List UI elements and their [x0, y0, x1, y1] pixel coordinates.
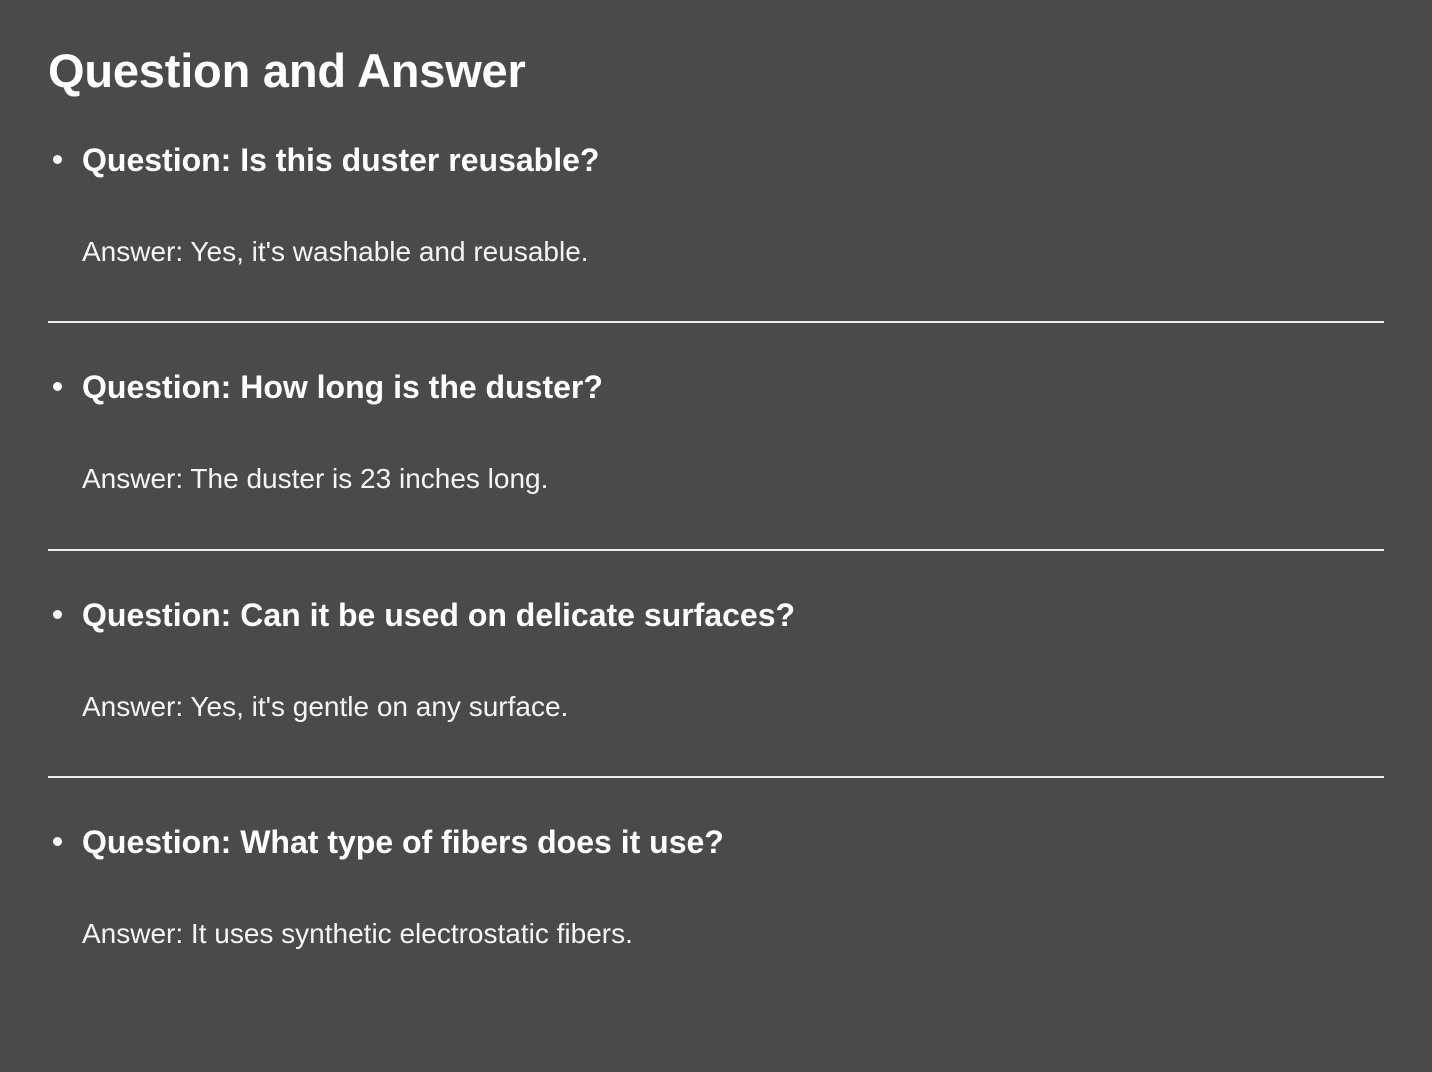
qa-answer-text: Answer: Yes, it's gentle on any surface.	[48, 689, 1388, 725]
qa-answer-text: Answer: The duster is 23 inches long.	[48, 461, 1388, 497]
qa-question: Question: Can it be used on delicate sur…	[48, 595, 1388, 635]
question-and-answer-panel: Question and Answer Question: Is this du…	[0, 0, 1432, 1072]
bullet-dot-icon	[53, 382, 62, 391]
page-title: Question and Answer	[48, 44, 1388, 98]
list-item: Question: How long is the duster? Answer…	[48, 367, 1388, 550]
qa-list: Question: Is this duster reusable? Answe…	[48, 140, 1388, 953]
bullet-dot-icon	[53, 155, 62, 164]
qa-question-text: Question: What type of fibers does it us…	[82, 824, 724, 860]
qa-question-text: Question: How long is the duster?	[82, 369, 603, 405]
qa-question: Question: Is this duster reusable?	[48, 140, 1388, 180]
list-item: Question: Can it be used on delicate sur…	[48, 595, 1388, 778]
qa-question-text: Question: Is this duster reusable?	[82, 142, 599, 178]
list-item: Question: Is this duster reusable? Answe…	[48, 140, 1388, 323]
qa-answer-text: Answer: It uses synthetic electrostatic …	[48, 916, 1388, 952]
section-divider	[48, 776, 1384, 778]
list-item: Question: What type of fibers does it us…	[48, 822, 1388, 952]
bullet-dot-icon	[53, 837, 62, 846]
section-divider	[48, 321, 1384, 323]
section-divider	[48, 549, 1384, 551]
qa-question: Question: How long is the duster?	[48, 367, 1388, 407]
qa-answer-text: Answer: Yes, it's washable and reusable.	[48, 234, 1388, 270]
bullet-dot-icon	[53, 610, 62, 619]
qa-question: Question: What type of fibers does it us…	[48, 822, 1388, 862]
qa-question-text: Question: Can it be used on delicate sur…	[82, 597, 795, 633]
